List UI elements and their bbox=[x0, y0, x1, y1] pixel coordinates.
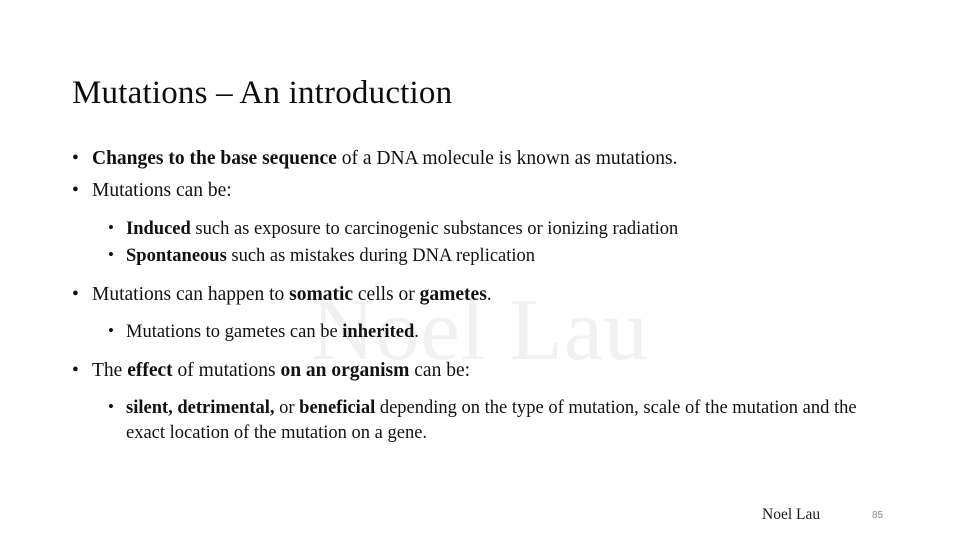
bullet-marker-icon: • bbox=[108, 217, 114, 240]
bold-run: silent, bbox=[126, 398, 173, 418]
bold-run: somatic bbox=[289, 284, 353, 305]
footer-author: Noel Lau bbox=[762, 506, 820, 524]
bullet-text: Mutations can be: bbox=[92, 178, 895, 203]
text-run: or bbox=[275, 398, 300, 418]
bullet-marker-icon: • bbox=[108, 244, 114, 267]
spacer bbox=[70, 348, 895, 358]
bold-run: Induced bbox=[126, 219, 191, 239]
bullet-text: Mutations can happen to somatic cells or… bbox=[92, 282, 895, 307]
bullet-item-level-1: •Mutations can happen to somatic cells o… bbox=[70, 282, 895, 307]
bullet-marker-icon: • bbox=[108, 320, 114, 343]
bold-run: Spontaneous bbox=[126, 246, 227, 266]
text-run: of mutations bbox=[173, 360, 281, 381]
bullet-marker-icon: • bbox=[72, 178, 79, 203]
bullet-text: Spontaneous such as mistakes during DNA … bbox=[126, 244, 895, 269]
bold-run: inherited bbox=[342, 322, 414, 342]
bullet-text: silent, detrimental, or beneficial depen… bbox=[126, 396, 895, 445]
bold-run: Changes to the base sequence bbox=[92, 148, 337, 169]
bullet-marker-icon: • bbox=[108, 396, 114, 419]
page-number: 85 bbox=[872, 510, 883, 521]
page-title: Mutations – An introduction bbox=[72, 74, 902, 114]
bullet-item-level-1: •The effect of mutations on an organism … bbox=[70, 358, 895, 383]
text-run: The bbox=[92, 360, 127, 381]
bold-run: effect bbox=[127, 360, 172, 381]
bullet-marker-icon: • bbox=[72, 146, 79, 171]
text-run: Mutations can be: bbox=[92, 180, 232, 201]
bullet-text: Induced such as exposure to carcinogenic… bbox=[126, 217, 895, 242]
text-run: such as mistakes during DNA replication bbox=[227, 246, 535, 266]
bullet-marker-icon: • bbox=[72, 358, 79, 383]
bullet-text: Mutations to gametes can be inherited. bbox=[126, 320, 895, 345]
bullet-item-level-1: •Changes to the base sequence of a DNA m… bbox=[70, 146, 895, 171]
bullet-item-level-2: •Spontaneous such as mistakes during DNA… bbox=[70, 244, 895, 269]
text-run: such as exposure to carcinogenic substan… bbox=[191, 219, 679, 239]
text-run: . bbox=[414, 322, 419, 342]
bold-run: gametes bbox=[420, 284, 487, 305]
text-run: Mutations to gametes can be bbox=[126, 322, 342, 342]
bullet-text: The effect of mutations on an organism c… bbox=[92, 358, 895, 383]
bullet-list: •Changes to the base sequence of a DNA m… bbox=[70, 146, 895, 448]
text-run: Mutations can happen to bbox=[92, 284, 289, 305]
bold-run: on an organism bbox=[280, 360, 409, 381]
slide-canvas: Noel Lau Mutations – An introduction •Ch… bbox=[0, 0, 960, 540]
bullet-marker-icon: • bbox=[72, 282, 79, 307]
text-run: cells or bbox=[353, 284, 420, 305]
text-run: . bbox=[487, 284, 492, 305]
bullet-item-level-1: •Mutations can be: bbox=[70, 178, 895, 203]
text-run: of a DNA molecule is known as mutations. bbox=[337, 148, 678, 169]
spacer bbox=[70, 272, 895, 282]
bullet-item-level-2: •Mutations to gametes can be inherited. bbox=[70, 320, 895, 345]
bullet-item-level-2: •silent, detrimental, or beneficial depe… bbox=[70, 396, 895, 445]
bold-run: detrimental, bbox=[177, 398, 274, 418]
bullet-item-level-2: •Induced such as exposure to carcinogeni… bbox=[70, 217, 895, 242]
bullet-text: Changes to the base sequence of a DNA mo… bbox=[92, 146, 895, 171]
text-run: can be: bbox=[409, 360, 470, 381]
bold-run: beneficial bbox=[299, 398, 375, 418]
